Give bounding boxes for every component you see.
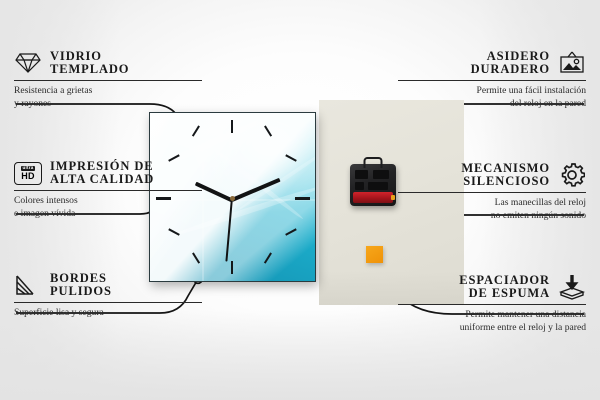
feature-title-line2: DE ESPUMA	[469, 287, 550, 300]
second-hand	[226, 200, 233, 262]
feature-title-line1: ASIDERO	[487, 50, 550, 63]
polished-edges-icon	[14, 272, 42, 298]
mechanism-hanger	[364, 157, 383, 168]
feature-asidero-duradero: ASIDERO DURADERO Permite una fácil insta…	[398, 50, 586, 111]
feature-divider	[14, 190, 202, 191]
feature-title-line1: BORDES	[50, 272, 112, 285]
feature-description: Resistencia a grietas y rayones	[14, 85, 202, 111]
feature-mecanismo-silencioso: MECANISMO SILENCIOSO Las manecillas del …	[398, 162, 586, 223]
feature-description: Permite mantener una distancia uniforme …	[398, 309, 586, 335]
hour-tick	[285, 228, 297, 236]
feature-impresion-alta-calidad: ultra HD IMPRESIÓN DE ALTA CALIDAD Color…	[14, 160, 202, 221]
feature-vidrio-templado: VIDRIO TEMPLADO Resistencia a grietas y …	[14, 50, 202, 111]
arrow-onto-pad-icon	[558, 274, 586, 300]
foam-spacer	[366, 246, 383, 263]
feature-title-line1: MECANISMO	[461, 162, 550, 175]
feature-divider	[398, 80, 586, 81]
hour-tick	[231, 120, 233, 133]
feature-title-line2: ALTA CALIDAD	[50, 173, 154, 186]
hanging-frame-icon	[558, 50, 586, 76]
feature-title-line2: SILENCIOSO	[463, 175, 550, 188]
feature-title-line1: IMPRESIÓN DE	[50, 160, 154, 173]
feature-description: Superficie lisa y segura	[14, 307, 202, 320]
feature-description: Permite una fácil instalación del reloj …	[398, 85, 586, 111]
hour-tick	[192, 125, 200, 136]
feature-title-line2: TEMPLADO	[50, 63, 129, 76]
feature-title-line1: VIDRIO	[50, 50, 129, 63]
hour-tick	[295, 197, 310, 200]
infographic-canvas: VIDRIO TEMPLADO Resistencia a grietas y …	[0, 0, 600, 400]
feature-divider	[14, 302, 202, 303]
hour-tick	[264, 252, 272, 263]
feature-bordes-pulidos: BORDES PULIDOS Superficie lisa y segura	[14, 272, 202, 320]
feature-title-line2: PULIDOS	[50, 285, 112, 298]
feature-description: Las manecillas del reloj no emiten ningú…	[398, 197, 586, 223]
feature-espaciador-de-espuma: ESPACIADOR DE ESPUMA Permite mantener un…	[398, 274, 586, 335]
feature-divider	[398, 192, 586, 193]
ultra-hd-large-text: HD	[21, 172, 35, 181]
ultra-hd-icon: ultra HD	[14, 160, 42, 186]
feature-description: Colores intensos e imagen vívida	[14, 195, 202, 221]
clock-mechanism	[350, 164, 396, 206]
hour-tick	[231, 261, 233, 274]
glass-seam-vertical	[202, 113, 204, 281]
feature-divider	[14, 80, 202, 81]
gear-icon	[558, 162, 586, 188]
hour-tick	[264, 125, 272, 136]
feature-divider	[398, 304, 586, 305]
battery	[353, 192, 393, 203]
feature-title-line2: DURADERO	[471, 63, 550, 76]
diamond-icon	[14, 50, 42, 76]
feature-title-line1: ESPACIADOR	[459, 274, 550, 287]
hour-tick	[192, 252, 200, 263]
hands-hub	[230, 196, 235, 201]
hour-tick	[285, 154, 297, 162]
